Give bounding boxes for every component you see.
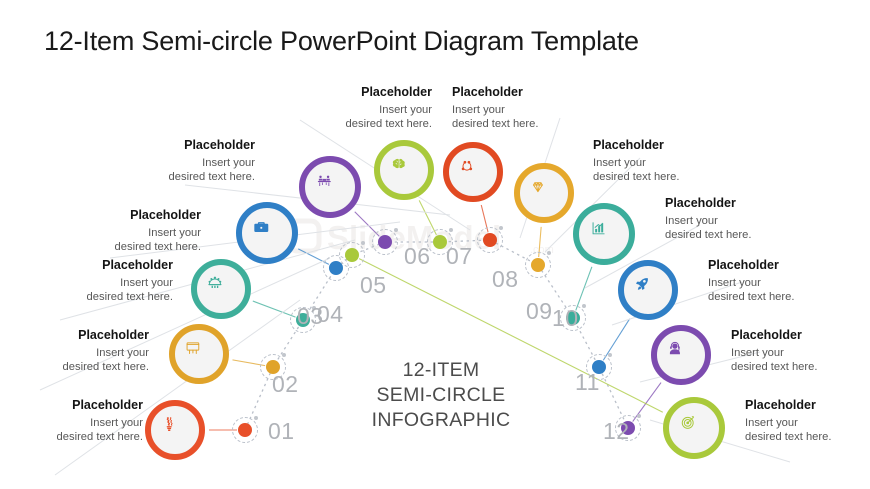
- team-table-icon: [206, 274, 236, 304]
- item-label-body-04: Insert yourdesired text here.: [76, 226, 201, 254]
- node-dot-07[interactable]: [483, 233, 497, 247]
- item-label-title-07: Placeholder: [452, 85, 572, 100]
- node-mini-dot-02: [282, 353, 286, 357]
- item-number-05: 05: [360, 272, 387, 299]
- item-label-title-04: Placeholder: [76, 208, 201, 223]
- item-label-title-11: Placeholder: [731, 328, 856, 343]
- brain-icon: [389, 155, 419, 185]
- node-mini-dot-12: [361, 241, 365, 245]
- node-dot-01[interactable]: [238, 423, 252, 437]
- item-label-title-12: Placeholder: [745, 398, 870, 413]
- stem-line-03: [253, 301, 296, 317]
- node-mini-dot-09: [582, 304, 586, 308]
- item-label-title-01: Placeholder: [18, 398, 143, 413]
- item-label-06: PlaceholderInsert yourdesired text here.: [312, 85, 432, 131]
- item-number-09: 09: [526, 298, 553, 325]
- node-mini-dot-11: [637, 414, 641, 418]
- item-label-05: PlaceholderInsert yourdesired text here.: [130, 138, 255, 184]
- item-label-body-02: Insert yourdesired text here.: [24, 346, 149, 374]
- center-caption-line2: SEMI-CIRCLE: [340, 383, 542, 408]
- item-number-06: 06: [404, 243, 431, 270]
- rocket-icon: [633, 275, 663, 305]
- item-number-04: 04: [317, 301, 344, 328]
- billboard-easel-icon: [184, 339, 214, 369]
- item-label-body-01: Insert yourdesired text here.: [18, 416, 143, 444]
- item-label-11: PlaceholderInsert yourdesired text here.: [731, 328, 856, 374]
- item-label-01: PlaceholderInsert yourdesired text here.: [18, 398, 143, 444]
- item-label-12: PlaceholderInsert yourdesired text here.: [745, 398, 870, 444]
- item-label-body-07: Insert yourdesired text here.: [452, 103, 572, 131]
- item-label-07: PlaceholderInsert yourdesired text here.: [452, 85, 572, 131]
- node-mini-dot-10: [608, 353, 612, 357]
- item-number-08: 08: [492, 266, 519, 293]
- item-ring-09[interactable]: [573, 203, 635, 265]
- item-number-01: 01: [268, 418, 295, 445]
- meeting-desk-icon: [315, 172, 346, 203]
- center-caption-line1: 12-ITEM: [340, 358, 542, 383]
- item-number-10: 10: [552, 305, 579, 332]
- center-caption-line3: INFOGRAPHIC: [340, 408, 542, 433]
- item-label-title-05: Placeholder: [130, 138, 255, 153]
- lightbulb-cfl-icon: [160, 415, 190, 445]
- item-label-title-10: Placeholder: [708, 258, 833, 273]
- node-dot-05[interactable]: [378, 235, 392, 249]
- support-agent-icon: [666, 340, 696, 370]
- item-label-body-10: Insert yourdesired text here.: [708, 276, 833, 304]
- item-ring-04[interactable]: [236, 202, 298, 264]
- item-ring-01[interactable]: [145, 400, 205, 460]
- item-label-body-05: Insert yourdesired text here.: [130, 156, 255, 184]
- item-label-body-12: Insert yourdesired text here.: [745, 416, 870, 444]
- recycle-cycle-icon: [458, 157, 488, 187]
- page-title: 12-Item Semi-circle PowerPoint Diagram T…: [44, 26, 639, 57]
- node-mini-dot-06: [449, 228, 453, 232]
- item-label-body-03: Insert yourdesired text here.: [48, 276, 173, 304]
- item-label-body-06: Insert yourdesired text here.: [312, 103, 432, 131]
- node-dot-06[interactable]: [433, 235, 447, 249]
- item-ring-06[interactable]: [374, 140, 434, 200]
- item-ring-02[interactable]: [169, 324, 229, 384]
- item-number-12: 12: [603, 418, 630, 445]
- item-label-title-06: Placeholder: [312, 85, 432, 100]
- item-label-10: PlaceholderInsert yourdesired text here.: [708, 258, 833, 304]
- center-caption: 12-ITEM SEMI-CIRCLE INFOGRAPHIC: [340, 358, 542, 433]
- item-ring-12[interactable]: [663, 397, 725, 459]
- item-label-03: PlaceholderInsert yourdesired text here.: [48, 258, 173, 304]
- item-label-body-08: Insert yourdesired text here.: [593, 156, 718, 184]
- node-dot-12[interactable]: [345, 248, 359, 262]
- bar-chart-icon: [589, 219, 620, 250]
- item-ring-10[interactable]: [618, 260, 678, 320]
- item-label-body-11: Insert yourdesired text here.: [731, 346, 856, 374]
- item-ring-11[interactable]: [651, 325, 711, 385]
- item-label-09: PlaceholderInsert yourdesired text here.: [665, 196, 790, 242]
- node-mini-dot-01: [254, 416, 258, 420]
- slide-canvas: 12-Item Semi-circle PowerPoint Diagram T…: [0, 0, 870, 489]
- item-label-title-09: Placeholder: [665, 196, 790, 211]
- target-arrow-icon: [679, 413, 710, 444]
- item-ring-05[interactable]: [299, 156, 361, 218]
- briefcase-icon: [252, 218, 283, 249]
- item-number-11: 11: [575, 369, 600, 396]
- item-ring-07[interactable]: [443, 142, 503, 202]
- diamond-icon: [529, 178, 559, 208]
- item-number-07: 07: [446, 243, 473, 270]
- node-mini-dot-07: [499, 226, 503, 230]
- node-dot-08[interactable]: [531, 258, 545, 272]
- item-label-title-02: Placeholder: [24, 328, 149, 343]
- item-ring-08[interactable]: [514, 163, 574, 223]
- item-label-04: PlaceholderInsert yourdesired text here.: [76, 208, 201, 254]
- item-label-body-09: Insert yourdesired text here.: [665, 214, 790, 242]
- item-number-02: 02: [272, 371, 299, 398]
- node-mini-dot-08: [547, 251, 551, 255]
- item-label-title-08: Placeholder: [593, 138, 718, 153]
- item-label-02: PlaceholderInsert yourdesired text here.: [24, 328, 149, 374]
- item-label-title-03: Placeholder: [48, 258, 173, 273]
- item-ring-03[interactable]: [191, 259, 251, 319]
- node-mini-dot-05: [394, 228, 398, 232]
- item-label-08: PlaceholderInsert yourdesired text here.: [593, 138, 718, 184]
